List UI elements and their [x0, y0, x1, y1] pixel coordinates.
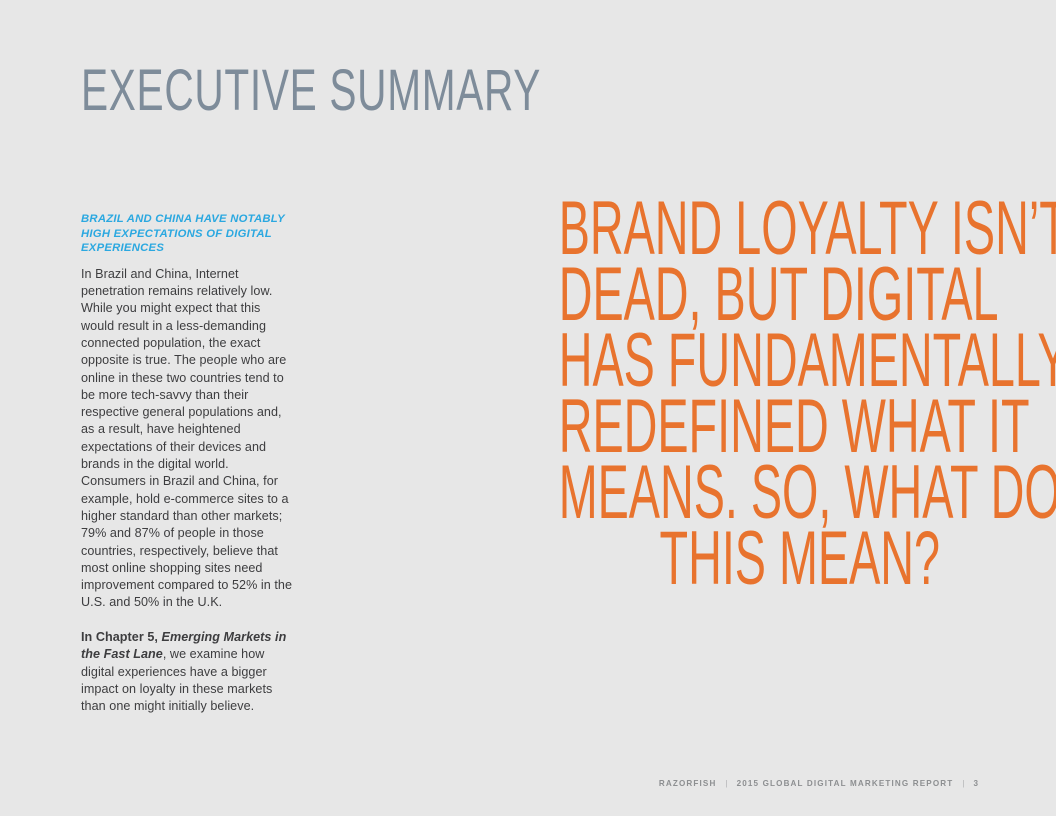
pull-quote: BRAND LOYALTY ISN’T DEAD, BUT DIGITAL HA…	[320, 196, 940, 592]
footer-page-number: 3	[973, 779, 978, 788]
footer-separator: |	[962, 779, 964, 788]
page-footer: RAZORFISH | 2015 GLOBAL DIGITAL MARKETIN…	[659, 779, 978, 788]
chapter-reference-lead: In Chapter 5,	[81, 630, 158, 644]
footer-brand: RAZORFISH	[659, 779, 717, 788]
sidebar-paragraph-1: In Brazil and China, Internet penetratio…	[81, 266, 293, 612]
sidebar-kicker-heading: BRAZIL AND CHINA HAVE NOTABLY HIGH EXPEC…	[81, 212, 293, 256]
footer-report-title: 2015 GLOBAL DIGITAL MARKETING REPORT	[737, 779, 954, 788]
sidebar-column: BRAZIL AND CHINA HAVE NOTABLY HIGH EXPEC…	[81, 212, 293, 716]
document-page: EXECUTIVE SUMMARY BRAZIL AND CHINA HAVE …	[0, 0, 1056, 816]
sidebar-paragraph-2: In Chapter 5, Emerging Markets in the Fa…	[81, 629, 293, 715]
footer-separator: |	[725, 779, 727, 788]
pull-quote-line: THIS MEAN?	[559, 526, 940, 592]
page-title: EXECUTIVE SUMMARY	[81, 62, 541, 120]
